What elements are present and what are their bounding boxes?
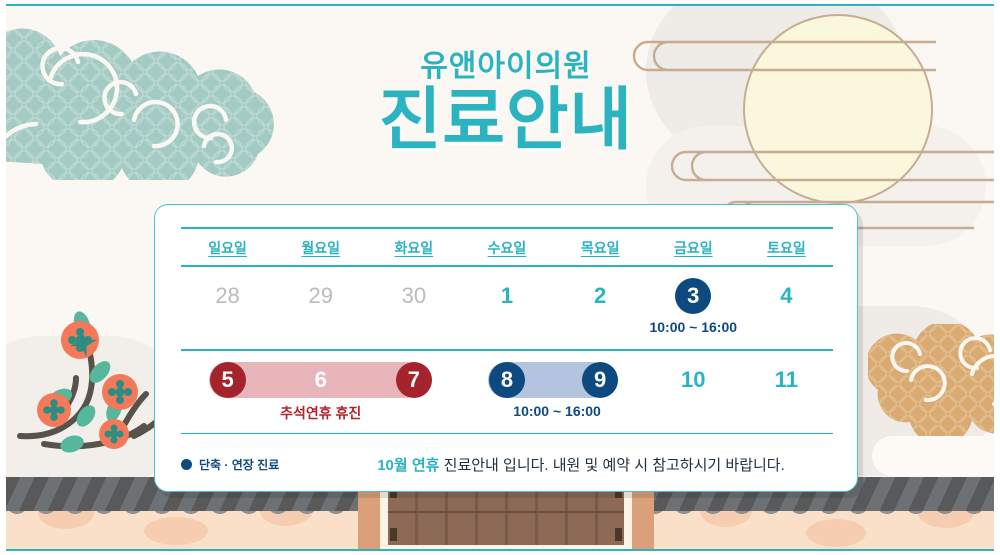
calendar-cell[interactable]: 29 bbox=[274, 267, 367, 349]
calendar-cell[interactable]: 3 10:00 ~ 16:00 bbox=[647, 267, 740, 349]
day-header-mon: 월요일 bbox=[274, 238, 367, 258]
poster-headline: 유앤아이의원 진료안내 bbox=[6, 50, 994, 156]
card-footer: 단축 · 연장 진료 10월 연휴 진료안내 입니다. 내원 및 예약 시 참고… bbox=[181, 454, 831, 475]
calendar-week-1: 28 29 30 1 2 bbox=[181, 267, 833, 349]
legend: 단축 · 연장 진료 bbox=[181, 456, 331, 473]
day-header-thu: 목요일 bbox=[554, 238, 647, 258]
footer-message-rest: 진료안내 입니다. 내원 및 예약 시 참고하시기 바랍니다. bbox=[439, 457, 784, 474]
calendar-rule-bottom bbox=[181, 433, 833, 435]
frame-gutter-right bbox=[994, 0, 1000, 555]
day-note: 10:00 ~ 16:00 bbox=[513, 403, 601, 419]
day-number: 10 bbox=[675, 362, 711, 398]
calendar-cell[interactable]: 6 추석연휴 휴진 bbox=[274, 351, 367, 433]
gold-cloud-base bbox=[872, 436, 994, 476]
calendar-cell[interactable]: 7 bbox=[367, 351, 460, 433]
day-header-tue: 화요일 bbox=[367, 238, 460, 258]
day-header-sun: 일요일 bbox=[181, 238, 274, 258]
calendar-cell[interactable]: 28 bbox=[181, 267, 274, 349]
day-number: 1 bbox=[489, 278, 525, 314]
frame-gutter-left bbox=[0, 0, 6, 555]
calendar-cell[interactable]: 1 bbox=[460, 267, 553, 349]
gold-cloud-icon bbox=[868, 324, 994, 444]
calendar-cell[interactable]: 30 bbox=[367, 267, 460, 349]
day-number: 5 bbox=[210, 362, 246, 398]
calendar-week-2: 5 6 추석연휴 휴진 7 8 9 bbox=[181, 351, 833, 433]
legend-dot-icon bbox=[181, 459, 192, 470]
calendar: 일요일 월요일 화요일 수요일 목요일 금요일 토요일 28 bbox=[181, 227, 833, 434]
frame-gutter-top bbox=[0, 0, 1000, 4]
poster-canvas: 유앤아이의원 진료안내 일요일 월요일 화요일 수요일 목요일 금요일 토요일 bbox=[0, 0, 1000, 555]
day-header-sat: 토요일 bbox=[740, 238, 833, 258]
footer-message: 10월 연휴 진료안내 입니다. 내원 및 예약 시 참고하시기 바랍니다. bbox=[331, 454, 831, 475]
legend-label: 단축 · 연장 진료 bbox=[199, 456, 279, 473]
frame-gutter-bottom bbox=[0, 551, 1000, 555]
day-number: 9 bbox=[582, 362, 618, 398]
calendar-cell[interactable]: 8 bbox=[460, 351, 553, 433]
day-number: 6 bbox=[303, 362, 339, 398]
schedule-card: 일요일 월요일 화요일 수요일 목요일 금요일 토요일 28 bbox=[154, 204, 858, 492]
day-number: 28 bbox=[210, 278, 246, 314]
calendar-cell[interactable]: 10 bbox=[647, 351, 740, 433]
day-number: 30 bbox=[396, 278, 432, 314]
day-number: 3 bbox=[675, 278, 711, 314]
day-note: 10:00 ~ 16:00 bbox=[649, 319, 737, 335]
clinic-name: 유앤아이의원 bbox=[6, 50, 994, 83]
footer-message-highlight: 10월 연휴 bbox=[377, 457, 439, 474]
calendar-cell[interactable]: 9 10:00 ~ 16:00 bbox=[554, 351, 647, 433]
day-number: 8 bbox=[489, 362, 525, 398]
poster-background: 유앤아이의원 진료안내 일요일 월요일 화요일 수요일 목요일 금요일 토요일 bbox=[6, 6, 994, 549]
day-number: 7 bbox=[396, 362, 432, 398]
day-number: 2 bbox=[582, 278, 618, 314]
day-number: 4 bbox=[768, 278, 804, 314]
calendar-cell[interactable]: 11 bbox=[740, 351, 833, 433]
day-note: 추석연휴 휴진 bbox=[280, 403, 361, 423]
day-number: 29 bbox=[303, 278, 339, 314]
gate-knob-br bbox=[615, 528, 622, 541]
calendar-cell[interactable]: 5 bbox=[181, 351, 274, 433]
page-title: 진료안내 bbox=[6, 85, 994, 156]
day-number: 11 bbox=[768, 362, 804, 398]
day-header-wed: 수요일 bbox=[460, 238, 553, 258]
calendar-cell[interactable]: 4 bbox=[740, 267, 833, 349]
calendar-cell[interactable]: 2 bbox=[554, 267, 647, 349]
gate-knob-bl bbox=[390, 528, 397, 541]
calendar-day-headers: 일요일 월요일 화요일 수요일 목요일 금요일 토요일 bbox=[181, 229, 833, 265]
day-header-fri: 금요일 bbox=[647, 238, 740, 258]
